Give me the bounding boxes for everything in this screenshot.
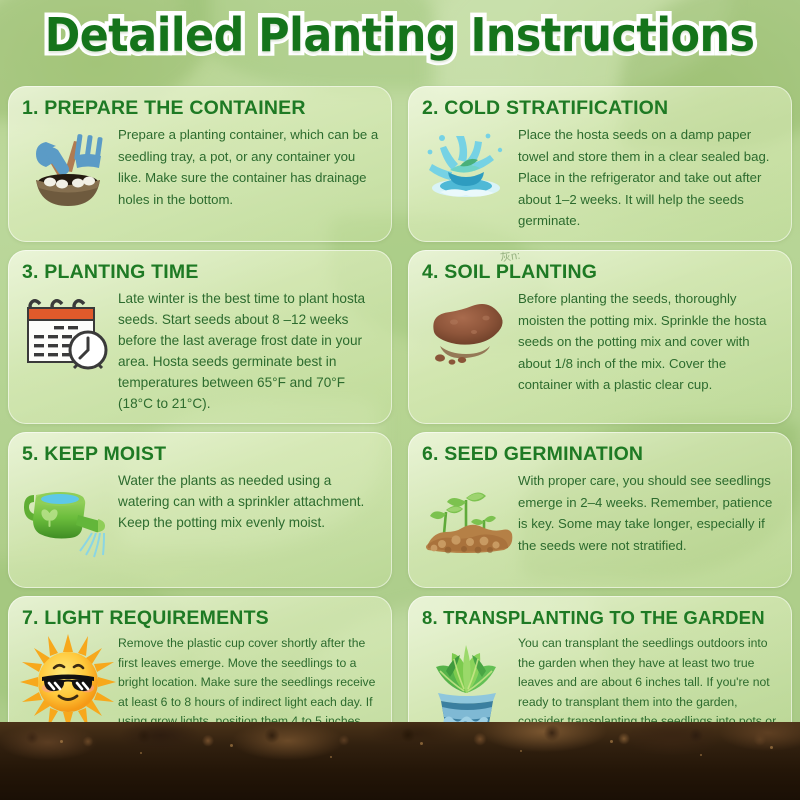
- instruction-card-6[interactable]: 6. SEED GERMINATION: [408, 432, 792, 588]
- soil-speck: [60, 740, 63, 743]
- card-body-3: Late winter is the best time to plant ho…: [20, 286, 380, 414]
- soil-photo-strip: [0, 722, 800, 800]
- card-text-4: Before planting the seeds, thoroughly mo…: [516, 286, 780, 396]
- soil-mound-icon: [420, 288, 516, 384]
- soil-speck: [230, 744, 233, 747]
- card-title-5: 5. KEEP MOIST: [22, 442, 380, 466]
- card-title-3: 3. PLANTING TIME: [22, 260, 380, 284]
- instruction-card-grid: 1. PREPARE THE CONTAINER: [8, 86, 792, 754]
- card-text-2: Place the hosta seeds on a damp paper to…: [516, 122, 780, 232]
- page-title-container: Detailed Planting Instructions: [0, 8, 800, 62]
- watering-can-icon: [20, 470, 116, 566]
- card-text-5: Water the plants as needed using a water…: [116, 468, 380, 533]
- card-title-6: 6. SEED GERMINATION: [422, 442, 780, 466]
- water-splash-icon: [420, 124, 516, 220]
- card-title-8: 8. TRANSPLANTING TO THE GARDEN: [422, 606, 780, 630]
- card-body-2: Place the hosta seeds on a damp paper to…: [420, 122, 780, 232]
- instruction-card-5[interactable]: 5. KEEP MOIST: [8, 432, 392, 588]
- soil-speck: [770, 746, 773, 749]
- instruction-card-1[interactable]: 1. PREPARE THE CONTAINER: [8, 86, 392, 242]
- card-body-4: Before planting the seeds, thoroughly mo…: [420, 286, 780, 396]
- instruction-card-4[interactable]: 灰n: 4. SOIL PLANTING: [408, 250, 792, 424]
- soil-speck: [140, 752, 142, 754]
- soil-speck: [610, 740, 613, 743]
- card-title-2: 2. COLD STRATIFICATION: [422, 96, 780, 120]
- calendar-clock-icon: [20, 288, 116, 384]
- card-text-3: Late winter is the best time to plant ho…: [116, 286, 380, 414]
- card-body-6: With proper care, you should see seedlin…: [420, 468, 780, 566]
- card-text-6: With proper care, you should see seedlin…: [516, 468, 780, 556]
- seedling-sprouts-icon: [420, 470, 516, 566]
- sun-with-sunglasses-icon: [20, 634, 116, 730]
- soil-speck: [520, 750, 522, 752]
- card-title-1: 1. PREPARE THE CONTAINER: [22, 96, 380, 120]
- instruction-card-3[interactable]: 3. PLANTING TIME: [8, 250, 392, 424]
- card-title-4: 4. SOIL PLANTING: [422, 260, 780, 284]
- potted-hosta-plant-icon: [420, 634, 516, 730]
- soil-speck: [700, 754, 702, 756]
- infographic-page: Detailed Planting Instructions 1. PREPAR…: [0, 0, 800, 800]
- card-body-1: Prepare a planting container, which can …: [20, 122, 380, 220]
- instruction-card-2[interactable]: 2. COLD STRATIFICATION: [408, 86, 792, 242]
- card-title-7: 7. LIGHT REQUIREMENTS: [22, 606, 380, 630]
- soil-speck: [330, 756, 332, 758]
- page-title: Detailed Planting Instructions: [45, 8, 755, 62]
- bowl-with-garden-tools-icon: [20, 124, 116, 220]
- card-body-5: Water the plants as needed using a water…: [20, 468, 380, 566]
- soil-speck: [420, 742, 423, 745]
- card-text-1: Prepare a planting container, which can …: [116, 122, 380, 210]
